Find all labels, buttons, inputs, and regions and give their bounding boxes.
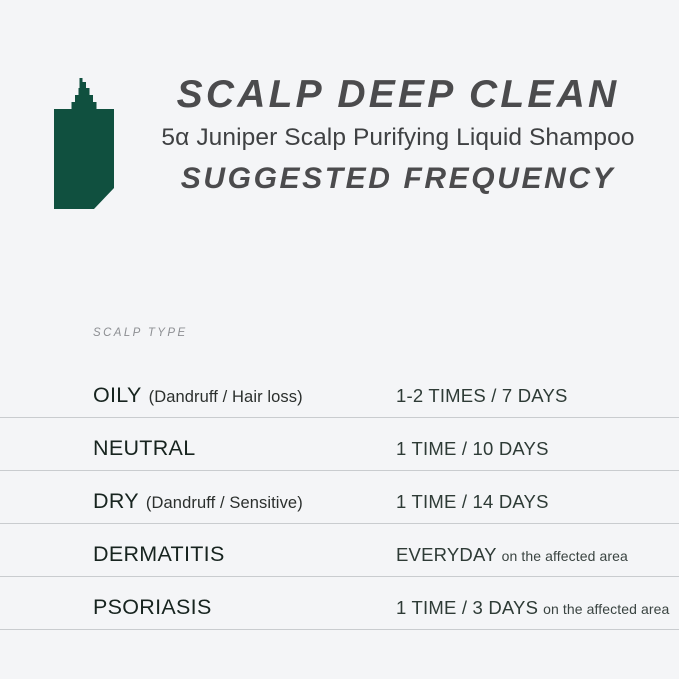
scalp-type-name: DRY bbox=[93, 489, 139, 514]
frequency-value: 1 TIME / 3 DAYS bbox=[396, 597, 538, 619]
frequency-note: on the affected area bbox=[543, 601, 669, 617]
scalp-type-note: (Dandruff / Hair loss) bbox=[149, 388, 303, 407]
table-row: DERMATITIS EVERYDAY on the affected area bbox=[0, 524, 679, 577]
frequency-cell: 1 TIME / 14 DAYS bbox=[396, 491, 554, 513]
scalp-type-cell: DRY (Dandruff / Sensitive) bbox=[93, 489, 303, 514]
frequency-value: 1-2 TIMES / 7 DAYS bbox=[396, 385, 568, 407]
scalp-type-name: OILY bbox=[93, 383, 142, 408]
scalp-type-name: NEUTRAL bbox=[93, 436, 195, 461]
title-block: SCALP DEEP CLEAN 5α Juniper Scalp Purify… bbox=[148, 72, 648, 199]
frequency-cell: 1-2 TIMES / 7 DAYS bbox=[396, 385, 573, 407]
frequency-cell: 1 TIME / 3 DAYS on the affected area bbox=[396, 597, 669, 619]
table-row: OILY (Dandruff / Hair loss) 1-2 TIMES / … bbox=[0, 365, 679, 418]
frequency-value: 1 TIME / 14 DAYS bbox=[396, 491, 549, 513]
shampoo-bottle-icon bbox=[48, 78, 120, 210]
header-section: SCALP DEEP CLEAN 5α Juniper Scalp Purify… bbox=[0, 0, 679, 240]
table-row: DRY (Dandruff / Sensitive) 1 TIME / 14 D… bbox=[0, 471, 679, 524]
table-rows: OILY (Dandruff / Hair loss) 1-2 TIMES / … bbox=[0, 365, 679, 630]
scalp-type-name: PSORIASIS bbox=[93, 595, 212, 620]
scalp-type-name: DERMATITIS bbox=[93, 542, 225, 567]
scalp-type-cell: OILY (Dandruff / Hair loss) bbox=[93, 383, 303, 408]
scalp-type-note: (Dandruff / Sensitive) bbox=[146, 494, 303, 513]
product-subtitle: 5α Juniper Scalp Purifying Liquid Shampo… bbox=[148, 120, 648, 156]
table-row: PSORIASIS 1 TIME / 3 DAYS on the affecte… bbox=[0, 577, 679, 630]
section-title: SUGGESTED FREQUENCY bbox=[148, 159, 648, 199]
frequency-cell: 1 TIME / 10 DAYS bbox=[396, 438, 554, 460]
page-title: SCALP DEEP CLEAN bbox=[148, 72, 648, 118]
scalp-type-cell: NEUTRAL bbox=[93, 436, 202, 461]
scalp-type-cell: DERMATITIS bbox=[93, 542, 232, 567]
frequency-value: EVERYDAY bbox=[396, 544, 497, 566]
frequency-cell: EVERYDAY on the affected area bbox=[396, 544, 628, 566]
scalp-type-cell: PSORIASIS bbox=[93, 595, 219, 620]
frequency-note: on the affected area bbox=[502, 548, 628, 564]
table-row: NEUTRAL 1 TIME / 10 DAYS bbox=[0, 418, 679, 471]
frequency-value: 1 TIME / 10 DAYS bbox=[396, 438, 549, 460]
column-header-scalp-type: SCALP TYPE bbox=[93, 327, 188, 339]
